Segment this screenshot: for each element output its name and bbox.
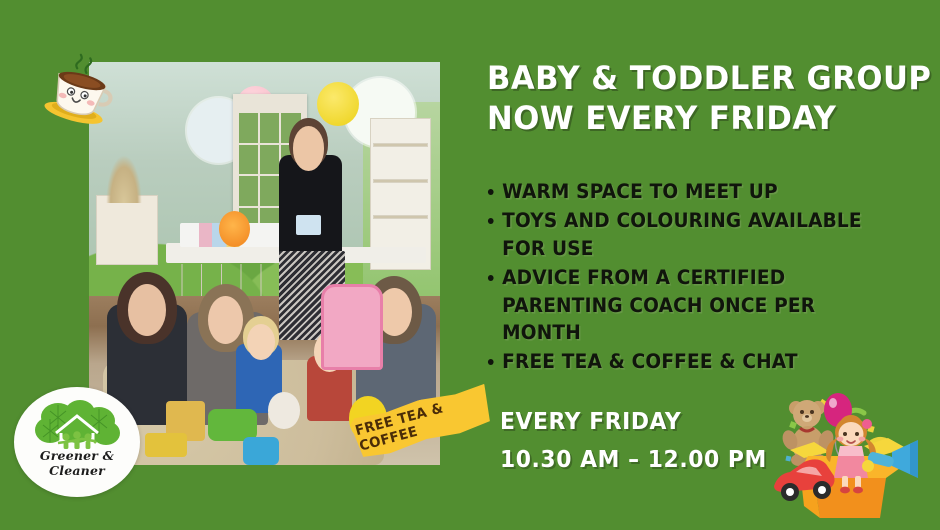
list-item-line: ADVICE FROM A CERTIFIED: [502, 264, 896, 292]
list-item-line: PARENTING COACH ONCE PER MONTH: [502, 292, 896, 348]
list-item: TOYS AND COLOURING AVAILABLE FOR USE: [486, 207, 896, 263]
toy-box-icon: [768, 386, 933, 526]
photo-toy-green: [208, 409, 257, 441]
photo-toddler-1-head: [247, 324, 275, 360]
photo-adult-1-head: [128, 284, 167, 336]
photo-adult-3-head: [293, 126, 325, 170]
list-item-line: WARM SPACE TO MEET UP: [502, 178, 896, 206]
list-item-line: FREE TEA & COFFEE & CHAT: [502, 348, 896, 376]
photo-toy-white-plush: [268, 392, 300, 428]
organisation-logo: Greener & Cleaner: [14, 387, 140, 497]
list-item: WARM SPACE TO MEET UP: [486, 178, 896, 206]
list-item-line: FOR USE: [502, 235, 896, 263]
schedule-day: EVERY FRIDAY: [500, 404, 814, 442]
photo-lanyard-badge: [296, 215, 321, 235]
photo-dried-plant: [103, 147, 145, 203]
logo-wordmark: Greener & Cleaner: [14, 448, 140, 478]
photo-toy-blue: [243, 437, 278, 465]
photo-shelf-row-3: [373, 215, 428, 219]
photo-shelf-row-1: [373, 143, 428, 147]
photo-side-cabinet: [96, 195, 158, 266]
photo-toy-red: [145, 433, 187, 457]
poster-canvas: BABY & TODDLER GROUP NOW EVERY FRIDAY WA…: [0, 0, 940, 530]
schedule-time: 10.30 AM – 12.00 PM: [500, 442, 814, 480]
list-item: ADVICE FROM A CERTIFIED PARENTING COACH …: [486, 264, 896, 348]
headline-line-1: BABY & TODDLER GROUP: [487, 58, 890, 98]
headline-line-2: NOW EVERY FRIDAY: [487, 98, 890, 138]
photo-table-right: [335, 247, 426, 263]
feature-list: WARM SPACE TO MEET UP TOYS AND COLOURING…: [486, 178, 896, 377]
photo-baby-walker: [321, 284, 383, 371]
schedule-block: EVERY FRIDAY 10.30 AM – 12.00 PM: [500, 404, 814, 480]
list-item-line: TOYS AND COLOURING AVAILABLE: [502, 207, 896, 235]
poster-headline: BABY & TODDLER GROUP NOW EVERY FRIDAY: [487, 58, 890, 139]
photo-shelf-row-2: [373, 179, 428, 183]
list-item: FREE TEA & COFFEE & CHAT: [486, 348, 896, 376]
